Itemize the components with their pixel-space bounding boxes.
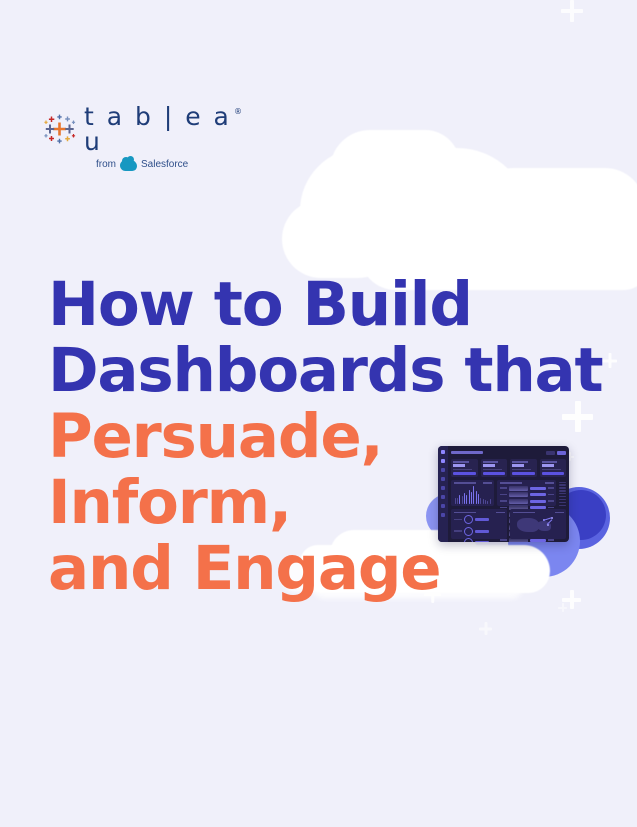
bar-chart-bar <box>462 496 463 504</box>
gauge-panel <box>451 509 507 539</box>
bar-chart-bar <box>471 492 472 504</box>
cloud-shape-top <box>330 130 460 200</box>
kpi-card <box>510 459 537 477</box>
nav-rail-item <box>441 504 445 508</box>
dashboard-nav-rail <box>438 446 448 542</box>
tableau-plus-marks-logo-icon <box>44 114 76 144</box>
tableau-wordmark-text: t a b | e a u <box>84 104 232 154</box>
plus-sparkle-icon <box>479 622 492 635</box>
bar-chart-bar <box>459 495 460 504</box>
dashboard-scroll-strip[interactable] <box>559 480 566 507</box>
bar-chart-bar <box>457 498 458 504</box>
bar-chart-bar <box>469 490 470 504</box>
nav-rail-item <box>441 468 445 472</box>
sparkline-row <box>500 486 554 491</box>
tableau-logo: t a b | e a u® from Salesforce <box>44 104 244 170</box>
nav-rail-item <box>441 477 445 481</box>
bar-chart-bar <box>490 499 491 503</box>
cloud-shape-top <box>470 168 637 266</box>
kpi-card <box>481 459 508 477</box>
dashboard-control-button <box>557 451 566 455</box>
kpi-card-row <box>451 459 566 477</box>
tableau-wordmark: t a b | e a u® <box>84 104 244 154</box>
gauge-ring-icon <box>464 515 473 524</box>
salesforce-tagline: from Salesforce <box>96 159 244 170</box>
tagline-prefix: from <box>96 159 116 170</box>
kpi-card <box>540 459 567 477</box>
map-panel <box>510 509 566 539</box>
cloud-shape-top <box>282 200 402 278</box>
salesforce-cloud-icon <box>120 160 137 171</box>
bar-chart-bar <box>455 498 456 504</box>
nav-rail-item <box>441 459 445 463</box>
dashboard-controls <box>546 451 566 455</box>
bar-chart-panel <box>451 480 494 507</box>
sparkline-row <box>500 499 554 504</box>
analytics-dashboard-screenshot <box>438 446 569 542</box>
bar-chart-bar <box>487 501 488 504</box>
nav-rail-item <box>441 495 445 499</box>
gauge-ring-icon <box>464 527 473 536</box>
headline-line-2: Dashboards that <box>48 338 608 404</box>
bar-chart-bar <box>480 498 481 504</box>
bar-chart-bar <box>473 486 474 504</box>
bar-chart-bar <box>476 491 477 504</box>
bar-chart-bar <box>485 500 486 504</box>
plus-sparkle-icon <box>561 0 583 22</box>
gauge-list <box>454 515 505 542</box>
gauge-row <box>454 538 505 542</box>
plus-sparkle-icon <box>558 603 567 612</box>
dashboard-control-button <box>546 451 555 455</box>
sparkline-row <box>500 492 554 497</box>
cover-page: t a b | e a u® from Salesforce How to Bu… <box>0 0 637 827</box>
salesforce-brand-name: Salesforce <box>141 159 188 170</box>
headline-line-4: and Engage <box>48 536 608 602</box>
bar-chart-bar <box>483 499 484 504</box>
gauge-ring-icon <box>464 538 473 542</box>
kpi-card <box>451 459 478 477</box>
bar-chart-bar <box>478 494 479 504</box>
bar-chart-bar <box>466 495 467 503</box>
dashboard-title-placeholder <box>451 451 483 454</box>
registered-trademark-mark: ® <box>234 108 242 116</box>
dashboard-header <box>451 449 566 456</box>
page-title: How to Build Dashboards that Persuade, I… <box>48 272 608 602</box>
sparkline-list-panel <box>497 480 556 507</box>
nav-rail-item <box>441 513 445 517</box>
nav-rail-item <box>441 450 445 454</box>
nav-rail-item <box>441 486 445 490</box>
gauge-row <box>454 515 505 524</box>
bar-chart-bar <box>464 493 465 504</box>
bar-chart <box>454 486 492 504</box>
cloud-shape-top <box>300 148 530 268</box>
headline-line-1: How to Build <box>48 272 608 338</box>
gauge-row <box>454 527 505 536</box>
